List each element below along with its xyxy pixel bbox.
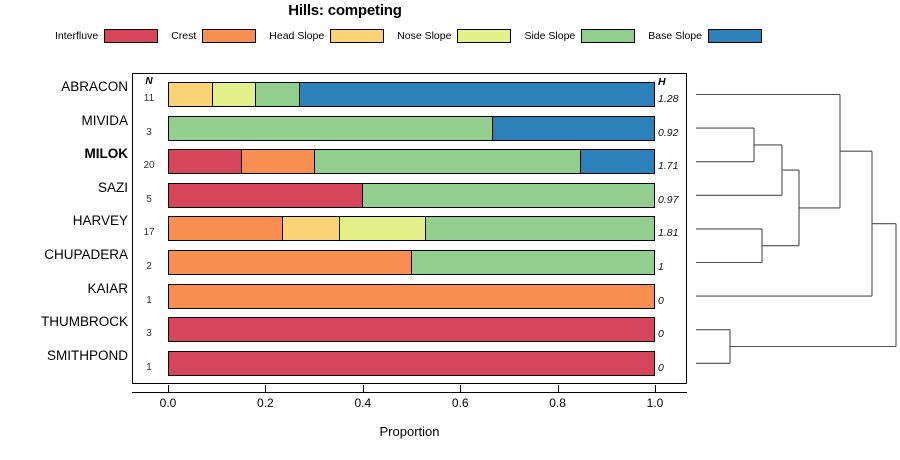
x-tick	[558, 385, 559, 393]
row-entropy: 1	[658, 261, 688, 273]
stacked-bar	[168, 351, 655, 376]
stacked-bar	[168, 183, 655, 208]
stacked-bar	[168, 250, 655, 275]
x-tick	[460, 385, 461, 393]
row-count: 3	[132, 127, 166, 138]
x-axis: 0.00.20.40.60.81.0	[132, 384, 687, 424]
bar-segment-nose-slope	[340, 217, 426, 240]
bar-segment-interfluve	[169, 150, 242, 173]
x-tick-label: 0.2	[245, 396, 285, 410]
row-count: 2	[132, 261, 166, 272]
bar-segment-nose-slope	[213, 83, 257, 106]
row-label-sazi: SAZI	[0, 179, 128, 196]
bar-segment-crest	[242, 150, 315, 173]
row-entropy: 0.97	[658, 194, 688, 206]
dendrogram	[692, 70, 900, 386]
row-entropy: 0	[658, 328, 688, 340]
row-count: 1	[132, 362, 166, 373]
row-entropy: 0	[658, 295, 688, 307]
bar-segment-side-slope	[363, 184, 654, 207]
bar-segment-interfluve	[169, 184, 363, 207]
bar-segment-interfluve	[169, 352, 654, 375]
bar-segment-side-slope	[426, 217, 654, 240]
bar-segment-base-slope	[493, 117, 655, 140]
bar-segment-head-slope	[169, 83, 213, 106]
bar-segment-base-slope	[300, 83, 654, 106]
row-label-abracon: ABRACON	[0, 78, 128, 95]
x-tick	[655, 385, 656, 393]
row-label-milok: MILOK	[0, 145, 128, 162]
bar-segment-side-slope	[315, 150, 582, 173]
bar-segment-crest	[169, 217, 283, 240]
x-tick-label: 0.0	[148, 396, 188, 410]
bar-segment-side-slope	[412, 251, 655, 274]
row-label-smithpond: SMITHPOND	[0, 347, 128, 364]
x-tick	[363, 385, 364, 393]
bar-segment-crest	[169, 251, 412, 274]
row-count: 1	[132, 295, 166, 306]
row-entropy: 0.92	[658, 127, 688, 139]
bar-segment-crest	[169, 285, 654, 308]
row-count: 3	[132, 328, 166, 339]
stacked-bar	[168, 116, 655, 141]
bar-segment-base-slope	[581, 150, 654, 173]
x-axis-line	[132, 392, 687, 393]
row-entropy: 0	[658, 362, 688, 374]
row-label-mivida: MIVIDA	[0, 112, 128, 129]
row-label-thumbrock: THUMBROCK	[0, 313, 128, 330]
x-tick-label: 0.8	[538, 396, 578, 410]
bar-segment-side-slope	[256, 83, 300, 106]
x-tick-label: 1.0	[635, 396, 675, 410]
row-entropy: 1.28	[658, 93, 688, 105]
x-tick	[168, 385, 169, 393]
row-entropy: 1.81	[658, 227, 688, 239]
row-label-kaiar: KAIAR	[0, 280, 128, 297]
stacked-bar	[168, 216, 655, 241]
x-axis-label: Proportion	[132, 424, 687, 439]
row-label-chupadera: CHUPADERA	[0, 246, 128, 263]
bar-segment-interfluve	[169, 318, 654, 341]
bar-segment-head-slope	[283, 217, 340, 240]
stacked-bar	[168, 284, 655, 309]
stacked-bar	[168, 82, 655, 107]
row-count: 17	[132, 227, 166, 238]
stacked-bar	[168, 317, 655, 342]
row-count: 11	[132, 93, 166, 104]
row-count: 20	[132, 160, 166, 171]
row-entropy: 1.71	[658, 160, 688, 172]
x-tick-label: 0.6	[440, 396, 480, 410]
row-count: 5	[132, 194, 166, 205]
row-label-harvey: HARVEY	[0, 212, 128, 229]
x-tick-label: 0.4	[343, 396, 383, 410]
bar-segment-side-slope	[169, 117, 493, 140]
chart-canvas: Hills: competing InterfluveCrestHead Slo…	[0, 0, 900, 460]
x-tick	[265, 385, 266, 393]
stacked-bar	[168, 149, 655, 174]
